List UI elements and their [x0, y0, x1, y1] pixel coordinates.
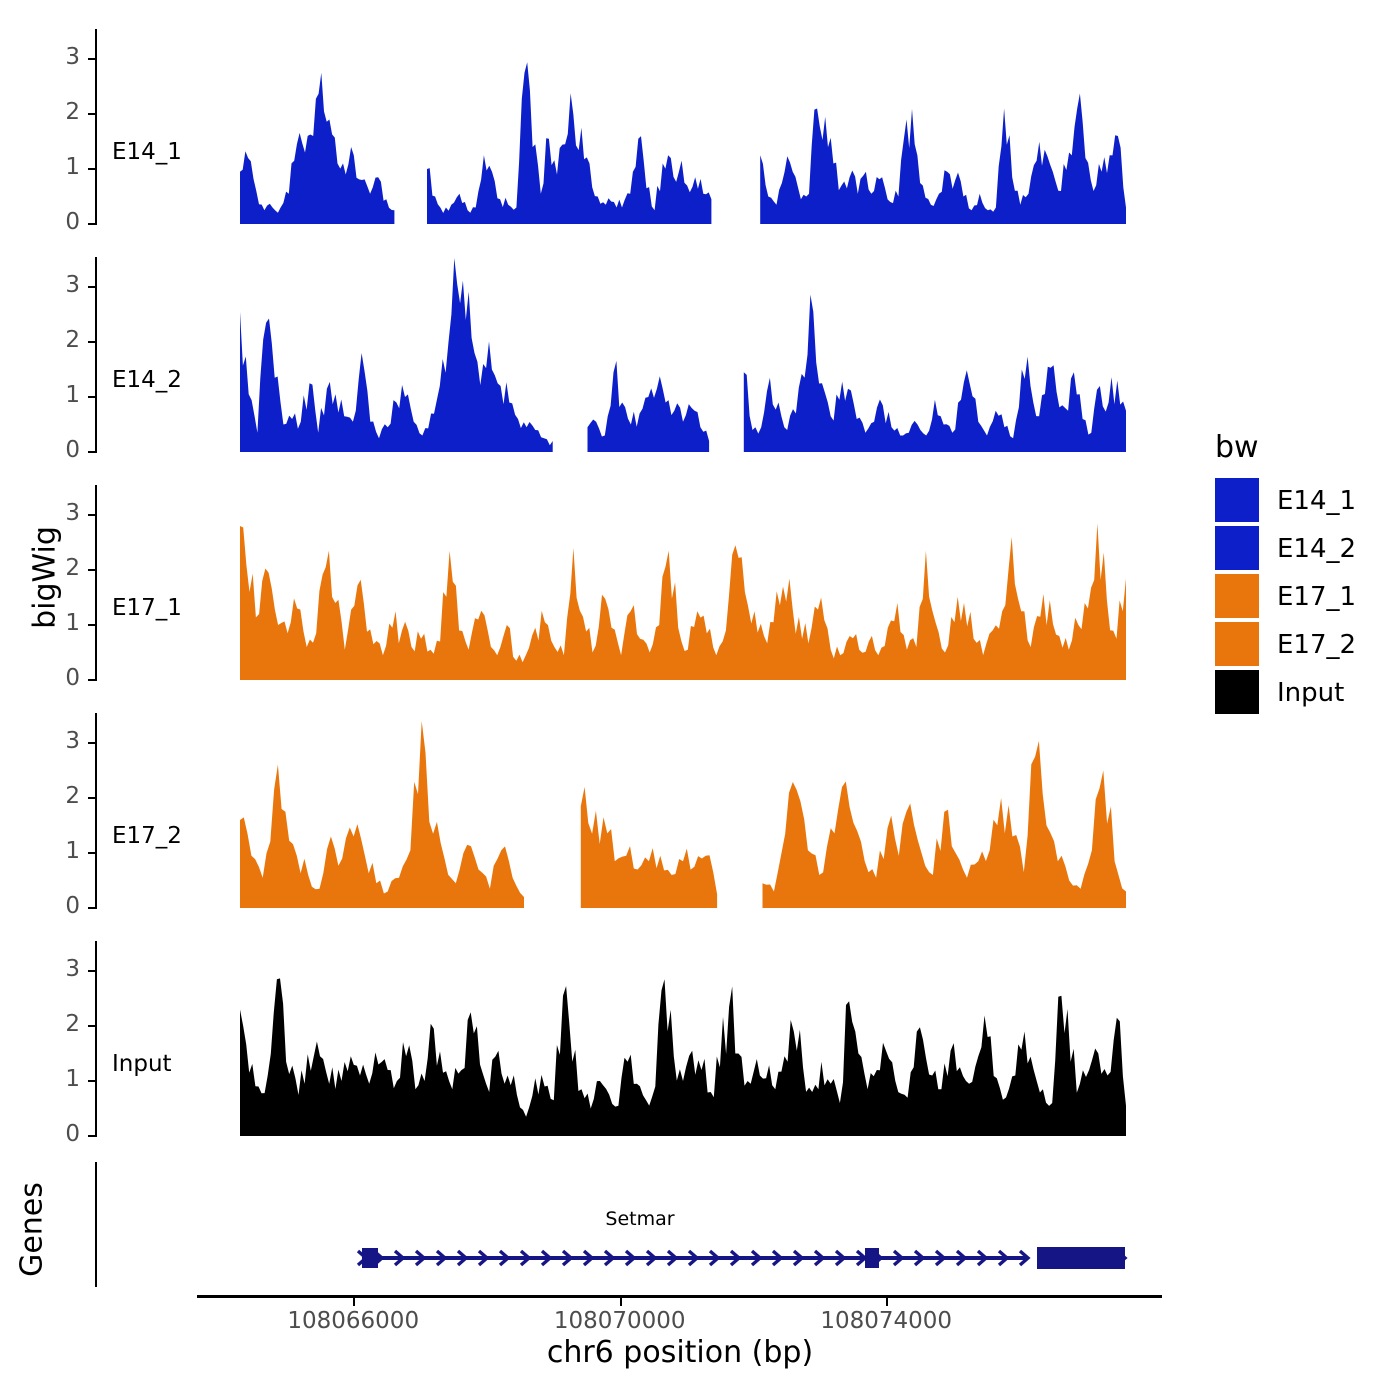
- y-tick: [88, 1080, 97, 1082]
- y-tick-label: 0: [28, 1121, 80, 1147]
- y-tick: [88, 514, 97, 516]
- coverage-segment: [763, 741, 1127, 908]
- gene-name-label: Setmar: [540, 1208, 740, 1230]
- x-tick: [886, 1298, 888, 1306]
- y-tick: [88, 223, 97, 225]
- coverage-segment: [240, 978, 1126, 1136]
- y-tick-label: 1: [28, 382, 80, 408]
- y-tick: [88, 1025, 97, 1027]
- y-tick-label: 0: [28, 893, 80, 919]
- y-tick: [88, 58, 97, 60]
- genes-panel: Setmar: [0, 1160, 1160, 1295]
- y-tick: [88, 624, 97, 626]
- coverage-segment: [240, 721, 524, 908]
- panel-label-e14_2: E14_2: [112, 367, 182, 393]
- y-tick-label: 1: [28, 838, 80, 864]
- legend-swatch-e17_2[interactable]: [1215, 622, 1259, 666]
- legend-title: bw: [1215, 430, 1259, 465]
- y-tick-label: 3: [28, 956, 80, 982]
- bigwig-panel-e14_1: 0123E14_1: [0, 18, 1160, 228]
- y-tick-label: 0: [28, 209, 80, 235]
- panel-label-e17_1: E17_1: [112, 595, 182, 621]
- y-tick: [88, 168, 97, 170]
- x-tick-label: 108074000: [786, 1308, 986, 1334]
- y-tick: [88, 113, 97, 115]
- coverage-segment: [240, 258, 553, 452]
- y-tick-label: 2: [28, 327, 80, 353]
- legend-label-e17_2: E17_2: [1277, 630, 1356, 660]
- legend: bw E14_1E14_2E17_1E17_2Input: [1215, 430, 1400, 690]
- legend-label-e17_1: E17_1: [1277, 582, 1356, 612]
- coverage-segment: [427, 62, 711, 224]
- coverage-track-e17_2: [240, 702, 1132, 912]
- panel-label-input: Input: [112, 1051, 172, 1077]
- panel-label-e17_2: E17_2: [112, 823, 182, 849]
- y-tick-label: 3: [28, 44, 80, 70]
- y-tick: [88, 286, 97, 288]
- y-tick: [88, 341, 97, 343]
- legend-label-e14_1: E14_1: [1277, 486, 1356, 516]
- y-tick-label: 1: [28, 610, 80, 636]
- y-tick-label: 1: [28, 1066, 80, 1092]
- y-tick: [88, 907, 97, 909]
- coverage-segment: [760, 94, 1126, 225]
- y-tick-label: 3: [28, 728, 80, 754]
- y-tick-label: 2: [28, 99, 80, 125]
- gene-model[interactable]: [240, 1238, 1130, 1278]
- y-tick: [88, 970, 97, 972]
- y-tick-label: 2: [28, 1011, 80, 1037]
- coverage-track-input: [240, 930, 1132, 1140]
- y-tick: [88, 1135, 97, 1137]
- coverage-track-e14_1: [240, 18, 1132, 228]
- y-tick-label: 1: [28, 154, 80, 180]
- coverage-segment: [588, 361, 710, 452]
- y-tick-label: 2: [28, 555, 80, 581]
- coverage-track-e14_2: [240, 246, 1132, 456]
- y-tick-label: 2: [28, 783, 80, 809]
- x-tick-label: 108066000: [253, 1308, 453, 1334]
- x-tick: [620, 1298, 622, 1306]
- x-axis-title: chr6 position (bp): [480, 1335, 880, 1370]
- legend-swatch-input[interactable]: [1215, 670, 1259, 714]
- legend-swatch-e17_1[interactable]: [1215, 574, 1259, 618]
- x-tick-label: 108070000: [520, 1308, 720, 1334]
- legend-swatch-e14_2[interactable]: [1215, 526, 1259, 570]
- bigwig-panel-e14_2: 0123E14_2: [0, 246, 1160, 456]
- coverage-segment: [240, 523, 1126, 680]
- y-tick: [88, 569, 97, 571]
- y-tick-label: 3: [28, 272, 80, 298]
- legend-label-e14_2: E14_2: [1277, 534, 1356, 564]
- y-tick: [88, 742, 97, 744]
- coverage-segment: [744, 295, 1126, 452]
- y-tick-label: 0: [28, 437, 80, 463]
- panel-label-e14_1: E14_1: [112, 139, 182, 165]
- x-axis-line: [197, 1295, 1162, 1298]
- bigwig-panel-e17_2: 0123E17_2: [0, 702, 1160, 912]
- legend-swatch-e14_1[interactable]: [1215, 478, 1259, 522]
- y-tick-label: 3: [28, 500, 80, 526]
- bigwig-panel-input: 0123Input: [0, 930, 1160, 1140]
- y-tick: [88, 451, 97, 453]
- legend-label-input: Input: [1277, 678, 1344, 708]
- coverage-segment: [581, 787, 717, 908]
- bigwig-panel-e17_1: 0123E17_1: [0, 474, 1160, 684]
- x-tick: [353, 1298, 355, 1306]
- coverage-segment: [240, 73, 394, 224]
- y-tick: [88, 852, 97, 854]
- y-tick: [88, 679, 97, 681]
- y-tick: [88, 396, 97, 398]
- coverage-track-e17_1: [240, 474, 1132, 684]
- genes-axis-line: [95, 1162, 97, 1287]
- y-tick: [88, 797, 97, 799]
- y-tick-label: 0: [28, 665, 80, 691]
